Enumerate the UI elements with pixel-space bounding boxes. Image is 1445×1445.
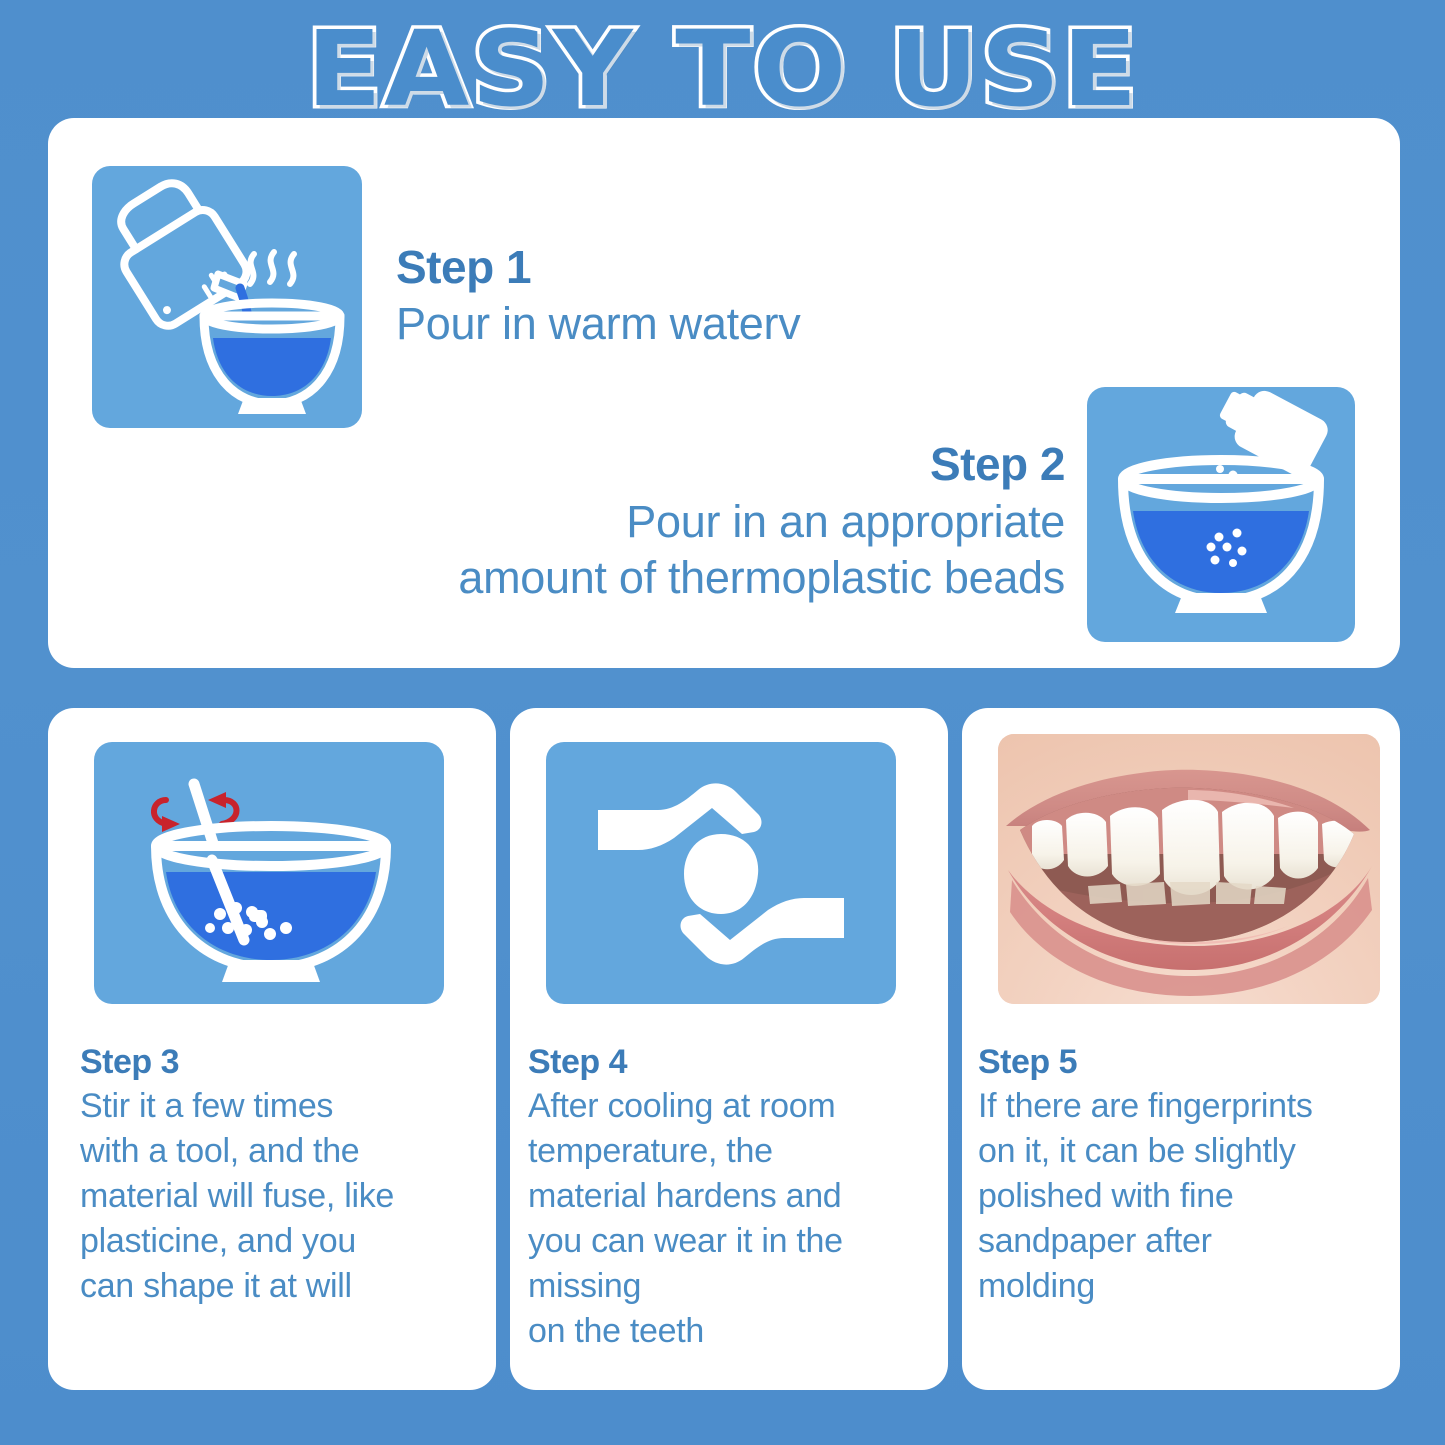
smiling-teeth-photo [998, 734, 1380, 1004]
step-1-heading: Step 1 [396, 238, 800, 296]
step-4-body: After cooling at room temperature, the m… [528, 1084, 928, 1354]
page-title: EASY TO USE [0, 14, 1445, 129]
bottle-pouring-beads-into-bowl-icon [1087, 387, 1355, 642]
step-4-heading: Step 4 [528, 1040, 928, 1084]
infographic-page: EASY TO USE [0, 0, 1445, 1445]
step-3-heading: Step 3 [80, 1040, 480, 1084]
step-1-body: Pour in warm waterv [396, 296, 800, 352]
page-title-text: EASY TO USE [306, 14, 1139, 124]
step-5-text: Step 5 If there are fingerprints on it, … [978, 1040, 1393, 1309]
step-2-text: Step 2 Pour in an appropriate amount of … [305, 434, 1065, 606]
two-hands-molding-icon [546, 742, 896, 1004]
step-1-text: Step 1 Pour in warm waterv [396, 238, 800, 352]
kettle-pouring-into-bowl-icon [92, 166, 362, 428]
step-3-text: Step 3 Stir it a few times with a tool, … [80, 1040, 480, 1309]
step-4-text: Step 4 After cooling at room temperature… [528, 1040, 928, 1354]
step-3-body: Stir it a few times with a tool, and the… [80, 1084, 480, 1309]
step-2-body: Pour in an appropriate amount of thermop… [305, 494, 1065, 606]
step-2-heading: Step 2 [305, 434, 1065, 494]
step-5-heading: Step 5 [978, 1040, 1393, 1084]
stirring-stick-in-bowl-icon [94, 742, 444, 1004]
step-5-body: If there are fingerprints on it, it can … [978, 1084, 1393, 1309]
